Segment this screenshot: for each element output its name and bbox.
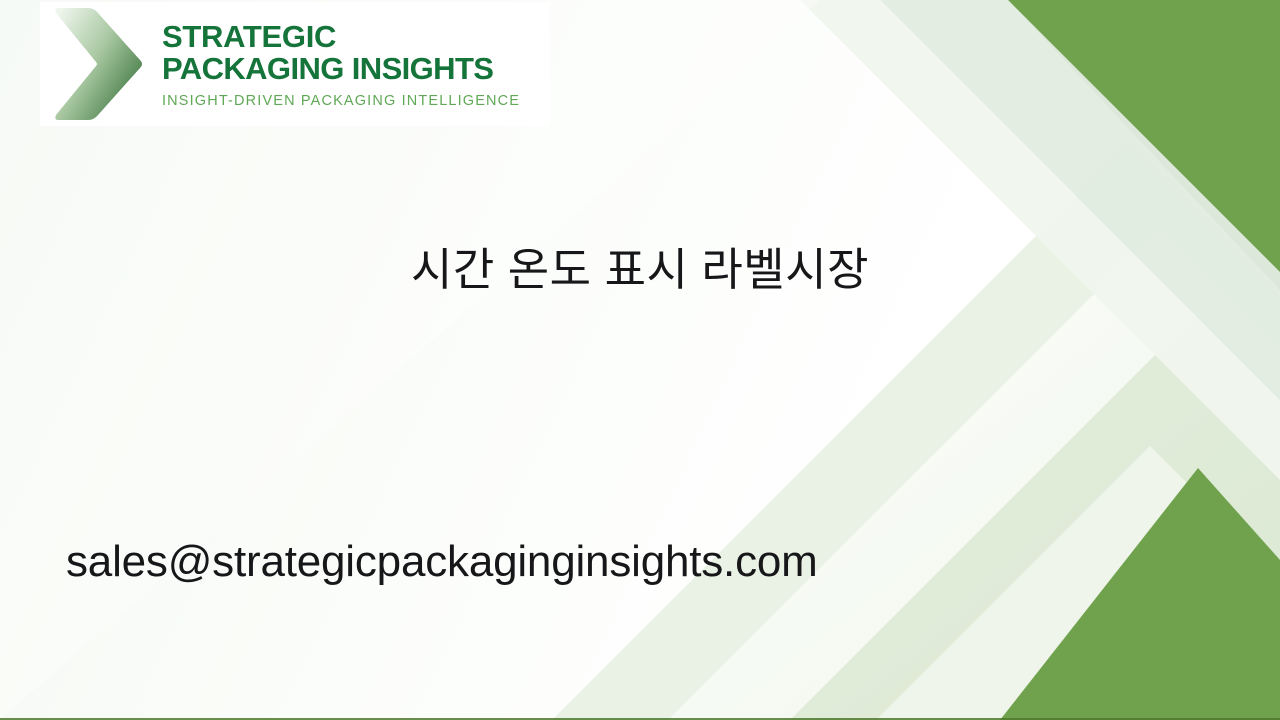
- diagonal-band-upper: [880, 0, 1280, 400]
- chevron-band-white: [668, 228, 1280, 720]
- logo-tagline: INSIGHT-DRIVEN PACKAGING INTELLIGENCE: [162, 93, 550, 109]
- diagonal-band-upper-pale: [800, 0, 1280, 480]
- company-logo: STRATEGIC PACKAGING INSIGHTS INSIGHT-DRI…: [40, 2, 550, 126]
- accent-region-top-right-fill: [1008, 0, 1280, 272]
- accent-triangle-bottom-right: [1000, 468, 1280, 720]
- contact-email: sales@strategicpackaginginsights.com: [66, 536, 818, 589]
- logo-line-2: PACKAGING INSIGHTS: [162, 53, 550, 85]
- slide-title: 시간 온도 표시 라벨시장: [160, 243, 1120, 297]
- logo-wordmark: STRATEGIC PACKAGING INSIGHTS INSIGHT-DRI…: [162, 2, 550, 126]
- chevron-band-light: [790, 314, 1280, 720]
- logo-line-1: STRATEGIC: [162, 21, 550, 53]
- chevron-right-logomark: [40, 2, 162, 126]
- chevron-band-inner-pale: [876, 446, 1280, 720]
- chevron-band-outer: [552, 144, 1280, 720]
- presentation-slide: STRATEGIC PACKAGING INSIGHTS INSIGHT-DRI…: [0, 0, 1280, 720]
